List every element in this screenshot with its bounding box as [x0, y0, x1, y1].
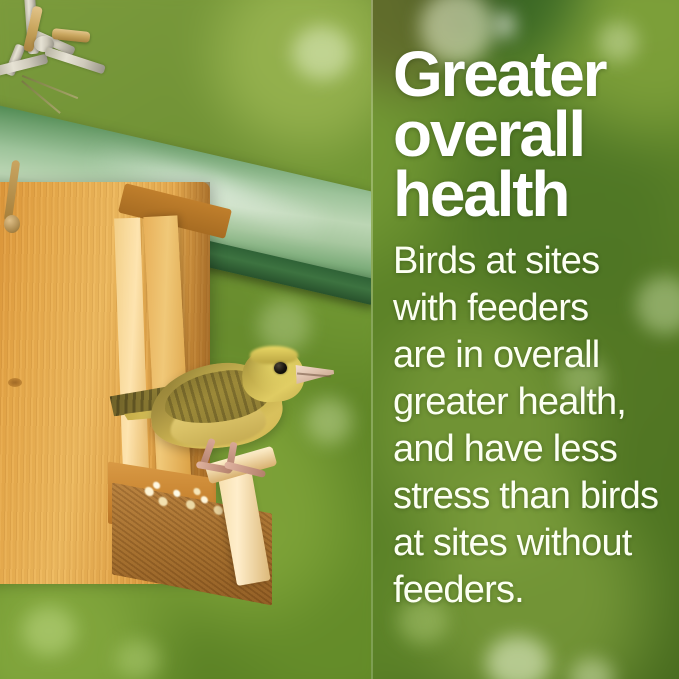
body-line: are in overall [393, 332, 665, 379]
bird-feeder-photo [0, 0, 371, 679]
feeder-hook-tip [4, 215, 20, 233]
bird-eye [274, 362, 287, 374]
text-panel: Greater overall health Birds at sites wi… [373, 0, 679, 679]
body-line: feeders. [393, 567, 665, 614]
greenfinch-bird [108, 338, 338, 498]
headline-line: overall [393, 104, 665, 164]
body-line: at sites without [393, 520, 665, 567]
infographic-card: Greater overall health Birds at sites wi… [0, 0, 679, 679]
body-line: and have less [393, 426, 665, 473]
bird-crown [250, 346, 298, 364]
bird-foot [224, 461, 266, 478]
body-line: with feeders [393, 285, 665, 332]
body-line: stress than birds [393, 473, 665, 520]
body-line: Birds at sites [393, 238, 665, 285]
body-line: greater health, [393, 379, 665, 426]
headline-line: Greater [393, 44, 665, 104]
headline-line: health [393, 164, 665, 224]
body-copy: Birds at sites with feeders are in overa… [393, 238, 665, 614]
headline: Greater overall health [393, 44, 665, 224]
wood-knot [8, 378, 22, 387]
